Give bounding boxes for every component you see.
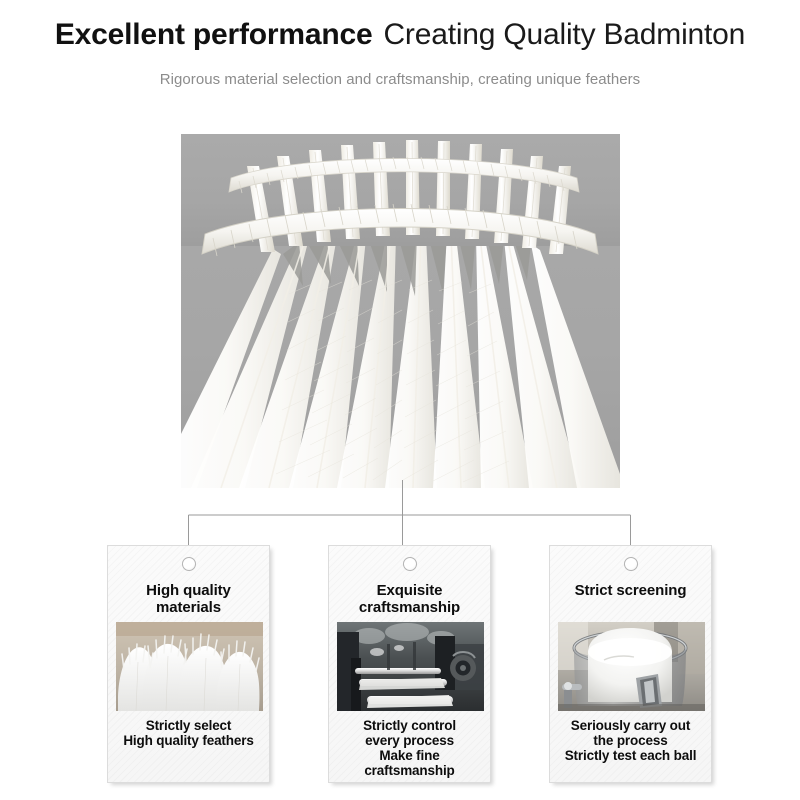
card-photo-machinery (337, 622, 484, 711)
hero-shuttlecock-photo (181, 134, 620, 488)
card-title-line: Strict screening (575, 582, 687, 599)
machine-illustration (337, 622, 484, 711)
card-title: Exquisite craftsmanship (335, 582, 484, 616)
grommet-hole-icon (182, 557, 196, 571)
card-caption-line: Strictly test each ball (553, 748, 708, 763)
card-caption: Seriously carry out the process Strictly… (553, 718, 708, 763)
page-subtitle: Rigorous material selection and craftsma… (0, 71, 800, 88)
card-caption-line: Seriously carry out (553, 718, 708, 733)
card-caption-line: Strictly select (111, 718, 266, 733)
feature-card-materials[interactable]: High quality materials (107, 545, 270, 783)
grommet-hole-icon (624, 557, 638, 571)
card-title-line: High quality (146, 582, 231, 599)
card-caption-line: Make fine (332, 748, 487, 763)
testing-fixture-illustration (558, 622, 705, 711)
card-title: High quality materials (114, 582, 263, 616)
card-caption: Strictly control every process Make fine… (332, 718, 487, 778)
page-title-light: Creating Quality Badminton (383, 18, 745, 51)
page-title-strong: Excellent performance (55, 18, 373, 51)
shuttlecock-illustration (181, 134, 620, 488)
card-title: Strict screening (556, 582, 705, 599)
card-caption-line: craftsmanship (332, 763, 487, 778)
feature-card-screening[interactable]: Strict screening (549, 545, 712, 783)
grommet-hole-icon (403, 557, 417, 571)
card-title-line: Exquisite (377, 582, 443, 599)
feature-card-craftsmanship[interactable]: Exquisite craftsmanship (328, 545, 491, 783)
card-caption-line: the process (553, 733, 708, 748)
card-title-line: craftsmanship (359, 599, 460, 616)
page-header: Excellent performanceCreating Quality Ba… (0, 0, 800, 118)
card-caption-line: Strictly control (332, 718, 487, 733)
card-photo-testing (558, 622, 705, 711)
card-caption-line: every process (332, 733, 487, 748)
card-caption: Strictly select High quality feathers (111, 718, 266, 748)
card-caption-line: High quality feathers (111, 733, 266, 748)
page-title: Excellent performanceCreating Quality Ba… (0, 18, 800, 52)
feather-bundle-illustration (116, 622, 263, 711)
card-title-line: materials (156, 599, 221, 616)
card-photo-feathers (116, 622, 263, 711)
